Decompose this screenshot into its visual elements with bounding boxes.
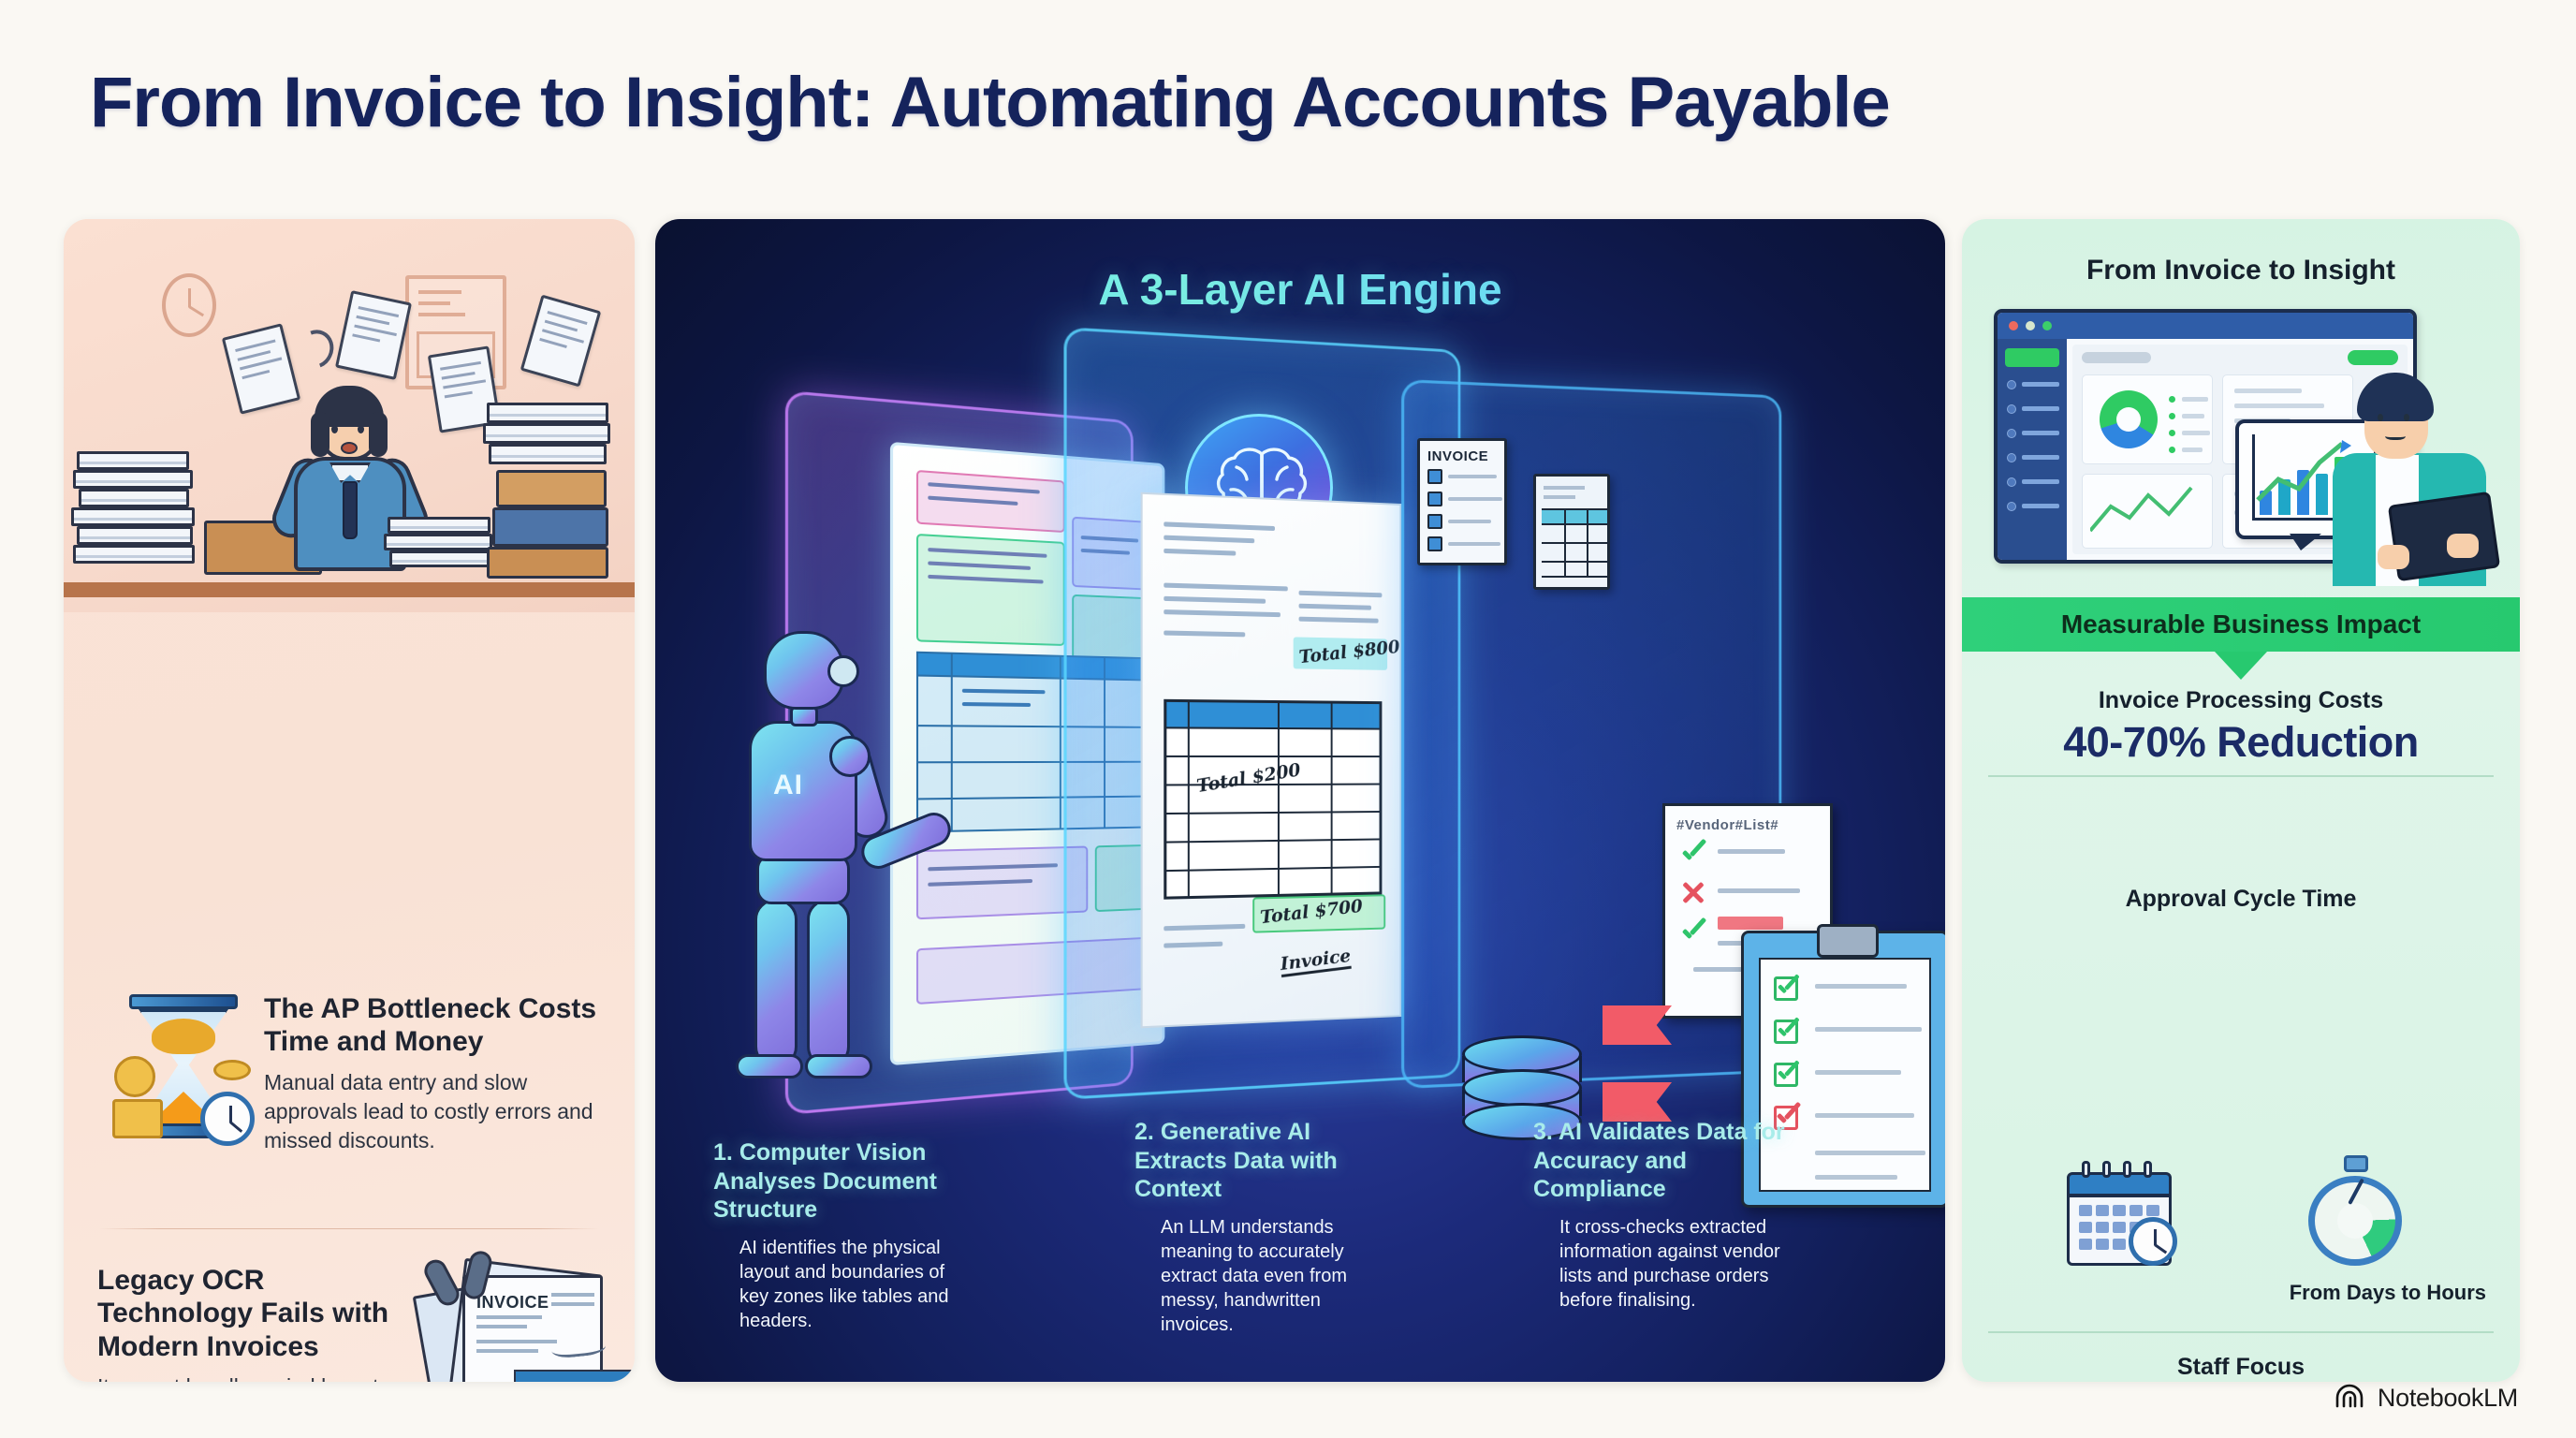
divider [99,1228,599,1229]
analytics-dashboard-illustration [1994,309,2488,584]
step-3-title: 3. AI Validates Data for Accuracy and Co… [1533,1118,1797,1204]
step-1-desc: AI identifies the physical layout and bo… [713,1236,977,1333]
invoice-stack-icon: INVOICE Total: 1,800 [425,1260,612,1382]
invoice-label: INVOICE [476,1293,549,1313]
problem-panel: The AP Bottleneck Costs Time and Money M… [64,219,635,1382]
divider [1988,775,2494,777]
paper-stack [389,550,490,567]
paper-stack [77,451,189,470]
paper-stack [487,403,608,423]
metric-approval-caption-wrap: From Days to Hours [1962,1281,2520,1305]
stopwatch-icon [2303,1155,2408,1266]
impact-banner: Measurable Business Impact [1962,597,2520,652]
flying-paper-icon [335,290,412,380]
paper-stack [388,517,490,534]
step-1: 1. Computer Vision Analyses Document Str… [713,1138,977,1333]
metric-approval-label: Approval Cycle Time [1962,886,2520,913]
legacy-ocr-heading: Legacy OCR Technology Fails with Modern … [97,1264,406,1363]
legacy-ocr-text-block: Legacy OCR Technology Fails with Modern … [97,1264,406,1382]
paper-stack [384,534,492,550]
robot-ai-label: AI [773,770,803,801]
metric-staff: Staff Focus [1962,1354,2520,1381]
engine-heading: A 3-Layer AI Engine [655,264,1945,315]
impact-panel: From Invoice to Insight [1962,219,2520,1382]
bottleneck-body: Manual data entry and slow approvals lea… [264,1068,603,1156]
paper-stack [73,545,195,564]
paper-stack [489,444,607,464]
archive-box-icon [487,547,608,579]
ai-engine-panel: A 3-Layer AI Engine [655,219,1945,1382]
impact-panel-title: From Invoice to Insight [1962,255,2520,286]
step-3: 3. AI Validates Data for Accuracy and Co… [1533,1118,1797,1313]
metric-cost-value: 40-70% Reduction [1962,718,2520,767]
metric-cost-label: Invoice Processing Costs [1962,687,2520,714]
archive-box-icon [492,507,608,547]
red-flag-icon [1603,1005,1672,1045]
infographic-page: From Invoice to Insight: Automating Acco… [0,0,2576,1438]
ai-robot-figure: AI [715,631,921,1099]
metric-approval: Approval Cycle Time [1962,886,2520,913]
paper-stack [71,507,195,526]
legacy-ocr-body: It cannot handle varied layouts, complex… [97,1372,406,1382]
annotation-signature: Invoice [1280,946,1352,977]
stressed-office-worker-illustration [64,219,635,612]
wall-clock-icon [162,273,216,337]
divider [1988,1331,2494,1333]
step-3-desc: It cross-checks extracted information ag… [1533,1215,1797,1313]
bottleneck-text-block: The AP Bottleneck Costs Time and Money M… [264,992,603,1156]
metric-approval-caption: From Days to Hours [1962,1281,2520,1305]
stress-swirl-icon [291,324,340,374]
step-2: 2. Generative AI Extracts Data with Cont… [1134,1118,1398,1337]
archive-box-icon [496,470,607,507]
metric-cost: Invoice Processing Costs 40-70% Reductio… [1962,687,2520,767]
paper-stack [79,489,189,507]
page-title: From Invoice to Insight: Automating Acco… [90,62,1890,143]
desk-surface [64,582,635,597]
step-1-title: 1. Computer Vision Analyses Document Str… [713,1138,977,1225]
step-2-desc: An LLM understands meaning to accurately… [1134,1215,1398,1337]
footer-brand: NotebookLM [2334,1383,2518,1414]
hourglass-coins-clock-icon [112,994,253,1146]
spreadsheet-icon [1533,474,1610,590]
red-flag-icon [1603,1082,1672,1122]
metric-staff-label: Staff Focus [1962,1354,2520,1381]
analyst-figure [2327,373,2492,584]
handwritten-invoice-document: Total $800 Total $200 Total $700 Invoice [1141,492,1402,1029]
validation-cluster: INVOICE #Vendor#List# [1404,388,1788,1080]
notebooklm-arc-logo [2334,1383,2366,1414]
paper-stack [77,526,193,545]
paper-stack [483,423,610,444]
step-2-title: 2. Generative AI Extracts Data with Cont… [1134,1118,1398,1204]
footer-brand-label: NotebookLM [2378,1384,2518,1413]
banner-notch [2215,652,2267,680]
paper-stack [73,470,193,489]
invoice-doc-icon: INVOICE [1417,438,1507,565]
flying-paper-icon [520,295,602,388]
calendar-clock-icon [2061,1159,2177,1268]
bottleneck-heading: The AP Bottleneck Costs Time and Money [264,992,603,1059]
